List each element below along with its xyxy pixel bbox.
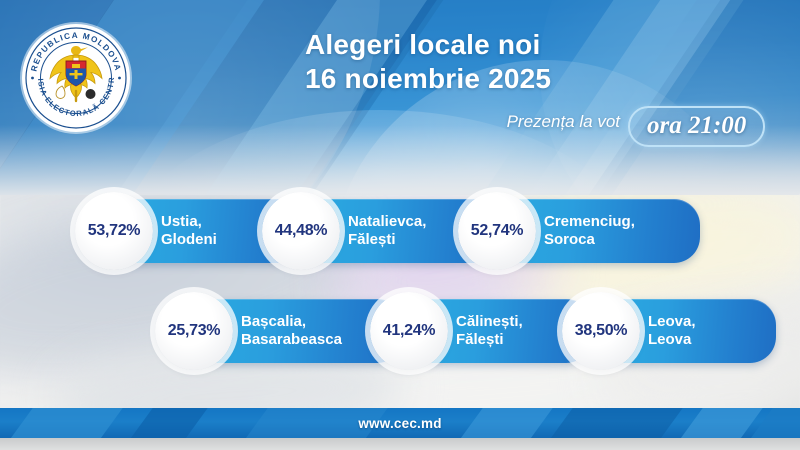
- poster-footer: www.cec.md: [0, 408, 800, 438]
- poster-title: Alegeri locale noi 16 noiembrie 2025: [305, 28, 775, 96]
- title-line-1: Alegeri locale noi: [305, 29, 540, 60]
- hour-badge: ora 21:00: [628, 106, 765, 147]
- turnout-percentage: 38,50%: [562, 292, 640, 370]
- locality-line-1: Natalievca,: [348, 213, 426, 231]
- locality-line-2: Fălești: [348, 231, 426, 249]
- locality-line-1: Leova,: [648, 313, 696, 331]
- locality-line-2: Leova: [648, 331, 696, 349]
- result-locality: Cremenciug, Soroca: [510, 199, 700, 263]
- footer-website-url[interactable]: www.cec.md: [0, 408, 800, 438]
- locality-line-1: Ustia,: [161, 213, 217, 231]
- locality-line-1: Bașcalia,: [241, 313, 342, 331]
- turnout-percentage: 44,48%: [262, 192, 340, 270]
- turnout-percentage: 52,74%: [458, 192, 536, 270]
- locality-line-2: Fălești: [456, 331, 523, 349]
- cec-moldova-seal-icon: REPUBLICA MOLDOVA COMISIA ELECTORALĂ CEN…: [22, 24, 130, 132]
- title-line-2: 16 noiembrie 2025: [305, 62, 775, 96]
- locality-line-1: Cremenciug,: [544, 213, 635, 231]
- turnout-percentage: 53,72%: [75, 192, 153, 270]
- footer-bottom-edge: [0, 438, 800, 450]
- turnout-percentage: 25,73%: [155, 292, 233, 370]
- locality-line-2: Glodeni: [161, 231, 217, 249]
- locality-line-2: Soroca: [544, 231, 635, 249]
- turnout-percentage: 41,24%: [370, 292, 448, 370]
- election-turnout-poster: REPUBLICA MOLDOVA COMISIA ELECTORALĂ CEN…: [0, 0, 800, 450]
- turnout-label: Prezența la vot: [300, 112, 620, 132]
- locality-line-2: Basarabeasca: [241, 331, 342, 349]
- locality-line-1: Călinești,: [456, 313, 523, 331]
